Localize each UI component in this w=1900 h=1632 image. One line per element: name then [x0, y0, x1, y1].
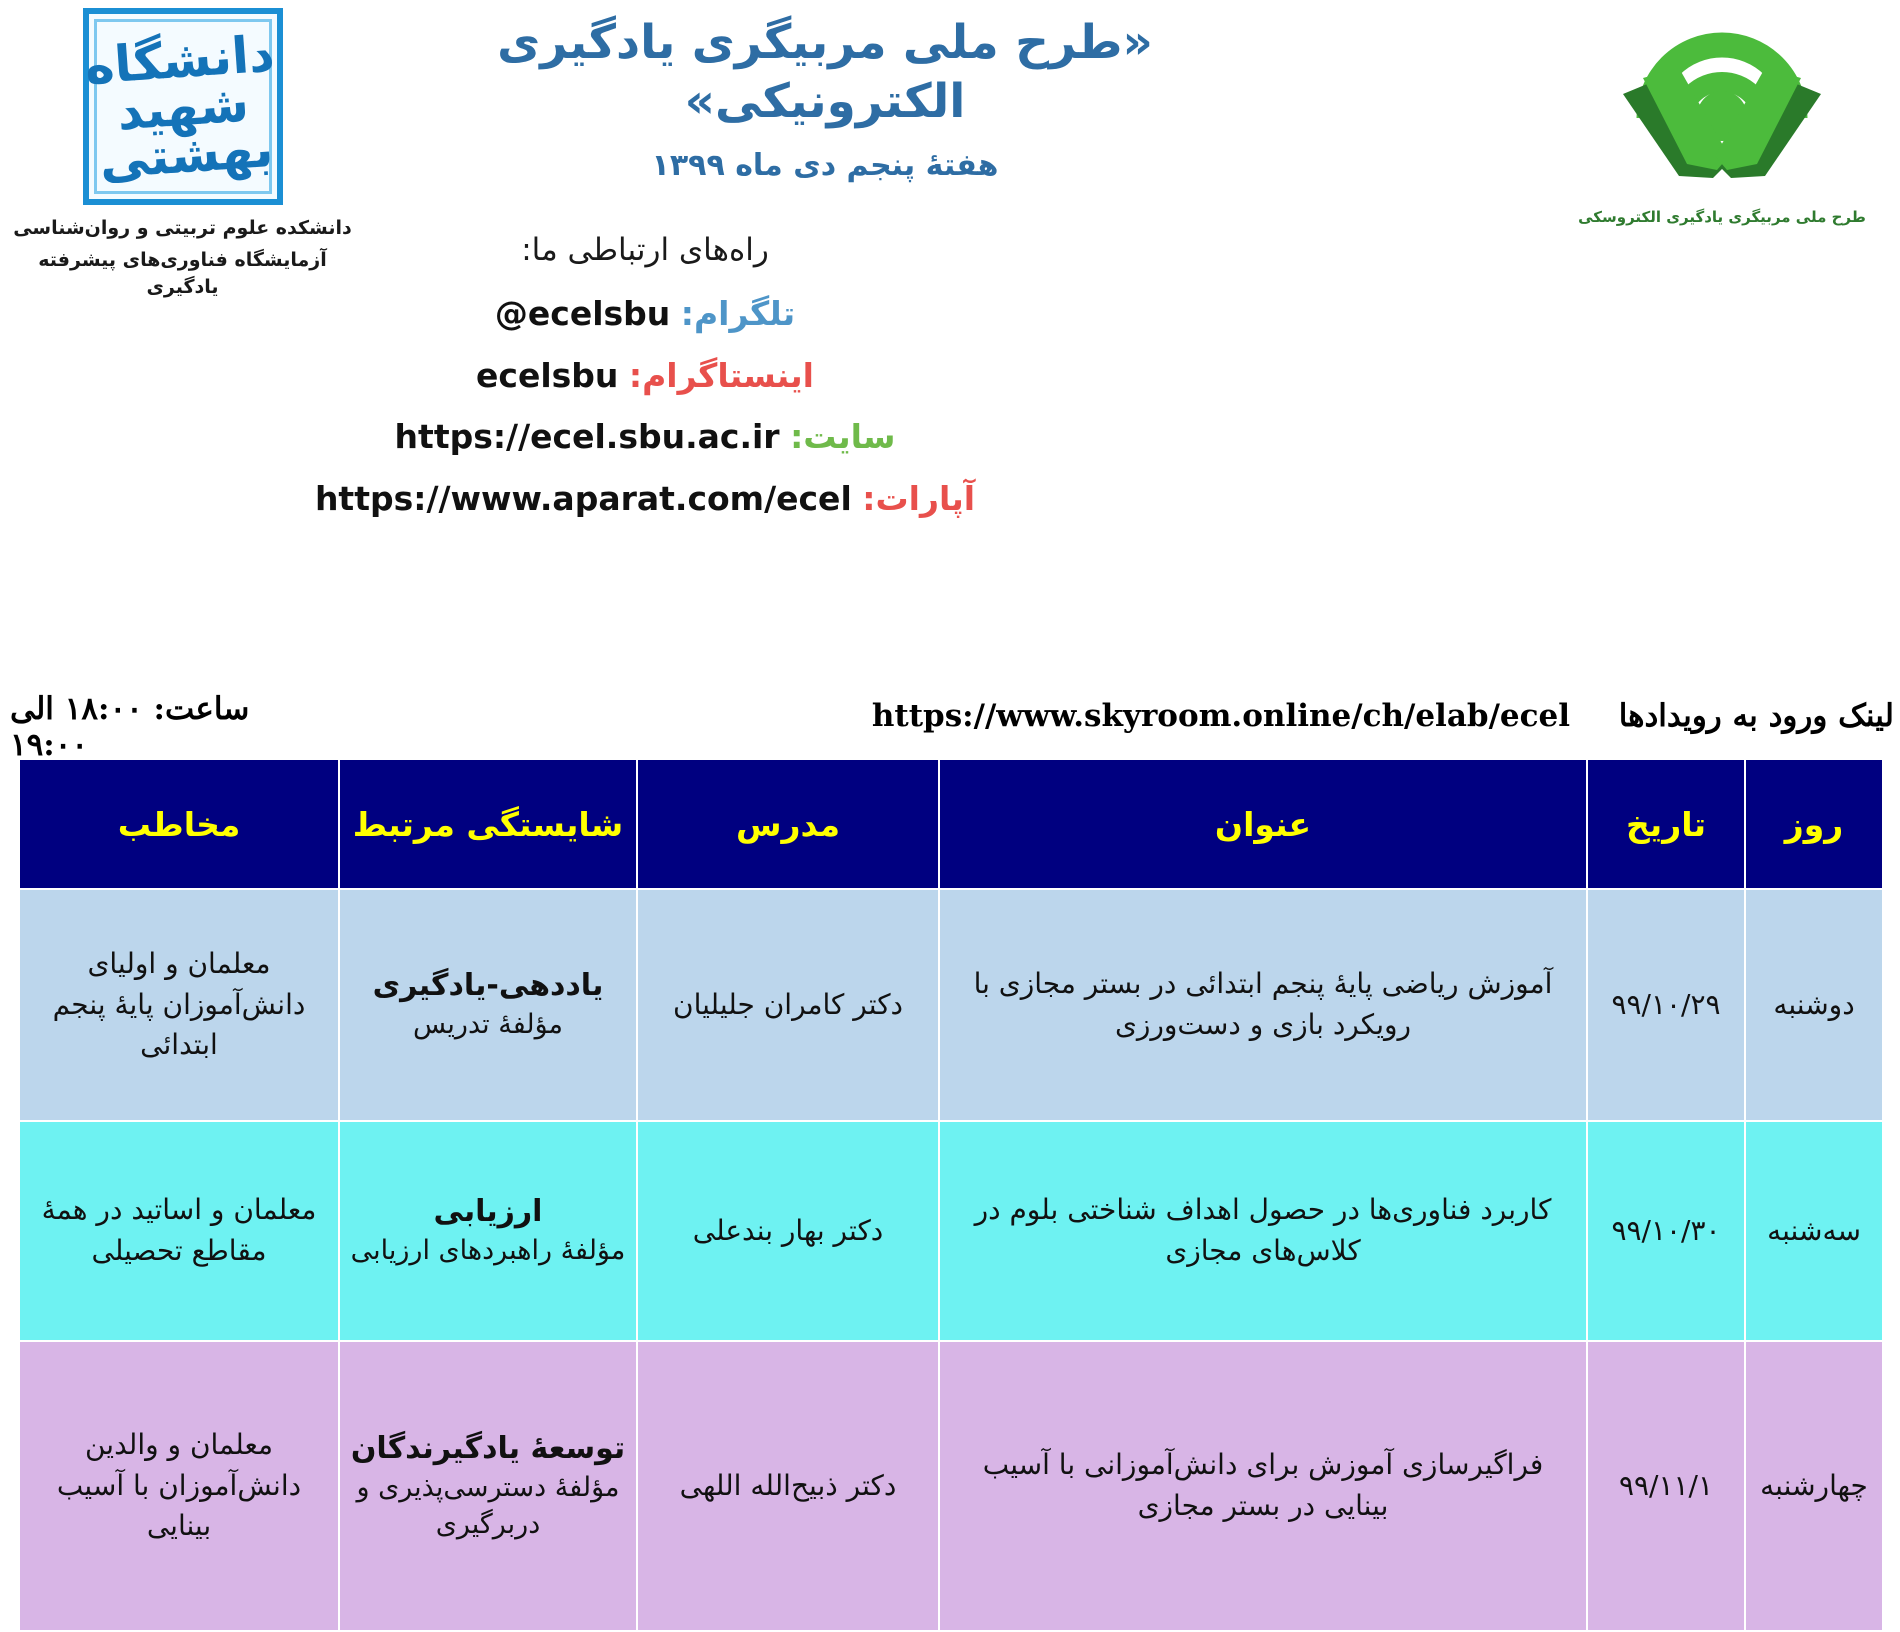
page-title: «طرح ملی مربیگری یادگیری الکترونیکی»: [360, 14, 1290, 132]
cell-day: سه‌شنبه: [1745, 1121, 1883, 1341]
cell-lecturer: دکتر بهار بندعلی: [637, 1121, 939, 1341]
page-subtitle: هفتهٔ پنجم دی ماه ۱۳۹۹: [360, 148, 1290, 183]
contact-colon: :: [862, 479, 875, 518]
contact-colon: :: [681, 294, 694, 333]
cell-title: فراگیرسازی آموزش برای دانش‌آموزانی با آس…: [939, 1341, 1587, 1631]
contact-colon: :: [629, 356, 642, 395]
competency-main: یاددهی-یادگیری: [348, 966, 628, 1005]
contact-colon: :: [790, 417, 803, 456]
programme-branding: طرح ملی مربیگری یادگیری الکتروسکی: [1572, 6, 1872, 226]
column-header-competency: شایستگی مرتبط: [339, 759, 637, 889]
competency-main: توسعهٔ یادگیرندگان: [348, 1429, 628, 1468]
cell-lecturer: دکتر کامران جلیلیان: [637, 889, 939, 1121]
contact-block: راه‌های ارتباطی ما: تلگرام: @ecelsbu این…: [0, 232, 1290, 540]
column-header-date: تاریخ: [1587, 759, 1745, 889]
contact-value-website[interactable]: https://ecel.sbu.ac.ir: [395, 417, 780, 457]
cell-title: کاربرد فناوری‌ها در حصول اهداف شناختی بل…: [939, 1121, 1587, 1341]
cell-lecturer: دکتر ذبیح‌الله اللهی: [637, 1341, 939, 1631]
cell-competency: توسعهٔ یادگیرندگان مؤلفهٔ دسترسی‌پذیری و…: [339, 1341, 637, 1631]
cell-audience: معلمان و اساتید در همهٔ مقاطع تحصیلی: [19, 1121, 339, 1341]
shahid-beheshti-university-logo-icon: دانشگاه شهید بهشتی: [83, 8, 283, 205]
cell-day: دوشنبه: [1745, 889, 1883, 1121]
university-logo-calligraphy: دانشگاه شهید بهشتی: [83, 27, 283, 186]
contact-label-website: سایت: [803, 417, 895, 456]
contact-row-telegram: تلگرام: @ecelsbu: [0, 294, 1290, 334]
column-header-title: عنوان: [939, 759, 1587, 889]
contact-value-aparat[interactable]: https://www.aparat.com/ecel: [315, 479, 852, 519]
contact-label-instagram: اینستاگرام: [642, 356, 814, 395]
column-header-audience: مخاطب: [19, 759, 339, 889]
title-block: «طرح ملی مربیگری یادگیری الکترونیکی» هفت…: [360, 14, 1290, 183]
cell-date: ۹۹/۱۰/۳۰: [1587, 1121, 1745, 1341]
table-row: دوشنبه ۹۹/۱۰/۲۹ آموزش ریاضی پایهٔ پنجم ا…: [19, 889, 1883, 1121]
contact-label-aparat: آپارات: [875, 479, 975, 518]
contact-label-telegram: تلگرام: [694, 294, 795, 333]
schedule-table-body: دوشنبه ۹۹/۱۰/۲۹ آموزش ریاضی پایهٔ پنجم ا…: [19, 889, 1883, 1631]
contact-row-website: سایت: https://ecel.sbu.ac.ir: [0, 417, 1290, 457]
schedule-table: روز تاریخ عنوان مدرس شایستگی مرتبط مخاطب…: [18, 758, 1884, 1632]
schedule-table-head: روز تاریخ عنوان مدرس شایستگی مرتبط مخاطب: [19, 759, 1883, 889]
session-time: ساعت: ۱۸:۰۰ الی ۱۹:۰۰: [10, 692, 390, 763]
competency-sub: مؤلفهٔ راهبردهای ارزیابی: [348, 1233, 628, 1269]
competency-sub: مؤلفهٔ دسترسی‌پذیری و دربرگیری: [348, 1470, 628, 1543]
table-row: سه‌شنبه ۹۹/۱۰/۳۰ کاربرد فناوری‌ها در حصو…: [19, 1121, 1883, 1341]
contact-value-instagram[interactable]: ecelsbu: [476, 356, 618, 396]
cell-date: ۹۹/۱۱/۱: [1587, 1341, 1745, 1631]
session-time-line-1: ساعت: ۱۸:۰۰ الی: [10, 691, 249, 727]
cell-competency: ارزیابی مؤلفهٔ راهبردهای ارزیابی: [339, 1121, 637, 1341]
programme-logo-caption: طرح ملی مربیگری یادگیری الکتروسکی: [1572, 208, 1872, 226]
table-row: چهارشنبه ۹۹/۱۱/۱ فراگیرسازی آموزش برای د…: [19, 1341, 1883, 1631]
competency-main: ارزیابی: [348, 1192, 628, 1231]
entry-link-label: لینک ورود به رویدادها: [1619, 698, 1894, 734]
logo-inner-frame: دانشگاه شهید بهشتی: [94, 19, 272, 194]
cell-audience: معلمان و اولیای دانش‌آموزان پایهٔ پنجم ا…: [19, 889, 339, 1121]
contact-heading: راه‌های ارتباطی ما:: [0, 232, 1290, 268]
cell-competency: یاددهی-یادگیری مؤلفهٔ تدریس: [339, 889, 637, 1121]
column-header-lecturer: مدرس: [637, 759, 939, 889]
cell-date: ۹۹/۱۰/۲۹: [1587, 889, 1745, 1121]
contact-row-instagram: اینستاگرام: ecelsbu: [0, 356, 1290, 396]
cell-title: آموزش ریاضی پایهٔ پنجم ابتدائی در بستر م…: [939, 889, 1587, 1121]
cell-audience: معلمان و والدین دانش‌آموزان با آسیب بینا…: [19, 1341, 339, 1631]
column-header-day: روز: [1745, 759, 1883, 889]
table-header-row: روز تاریخ عنوان مدرس شایستگی مرتبط مخاطب: [19, 759, 1883, 889]
entry-link-url[interactable]: https://www.skyroom.online/ch/elab/ecel: [872, 698, 1570, 734]
contact-row-aparat: آپارات: https://www.aparat.com/ecel: [0, 479, 1290, 519]
competency-sub: مؤلفهٔ تدریس: [348, 1007, 628, 1043]
ecel-programme-logo-icon: [1617, 6, 1827, 206]
event-link-bar: لینک ورود به رویدادها https://www.skyroo…: [0, 690, 1900, 752]
contact-value-telegram[interactable]: @ecelsbu: [495, 294, 670, 334]
cell-day: چهارشنبه: [1745, 1341, 1883, 1631]
